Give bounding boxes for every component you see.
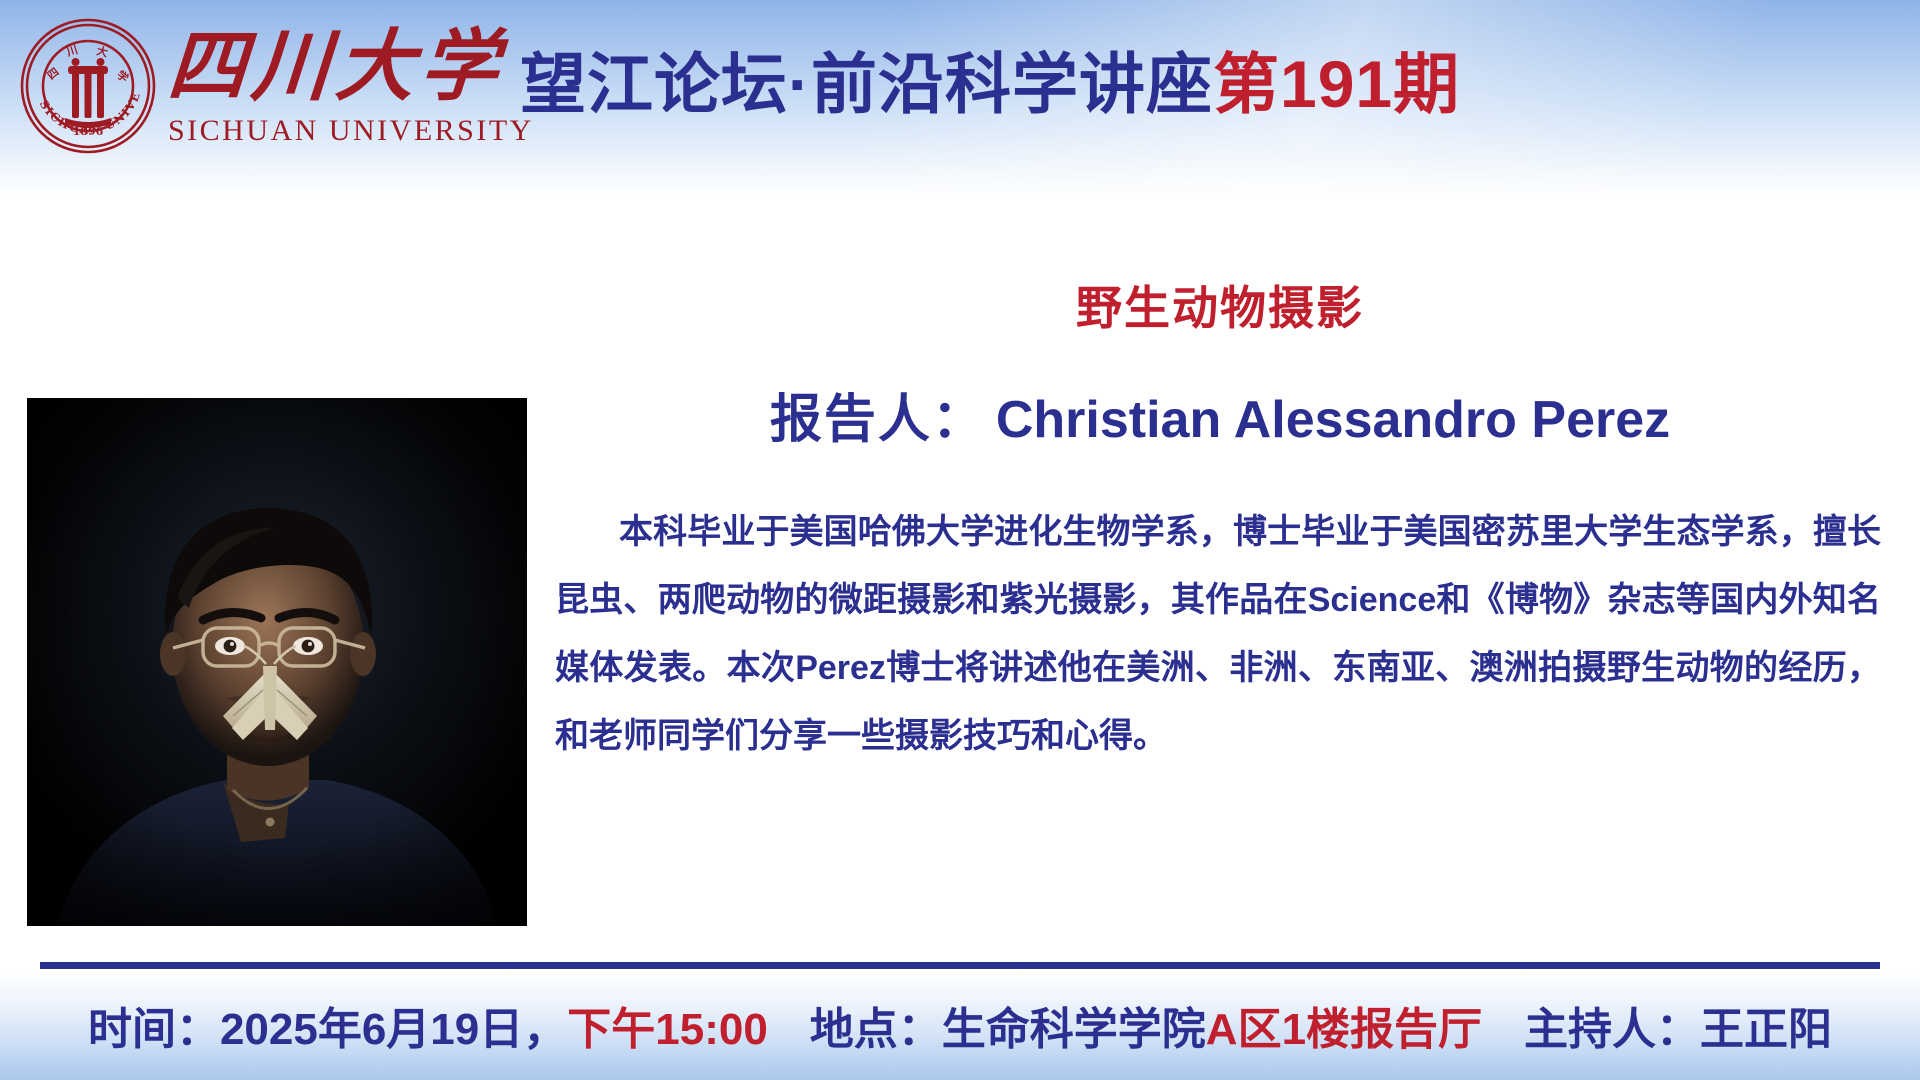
svg-text:大: 大 [95,43,109,59]
svg-text:川: 川 [64,43,79,59]
sichuan-university-seal-icon: 四 川 大 学 1896 SICHUAN UNIVERSITY [18,16,158,156]
place-name: 生命科学学院 [942,993,1206,1057]
speaker-label: 报告人： [770,391,986,449]
banner-title-main: 望江论坛·前沿科学讲座 [520,31,1213,127]
footer-info: 时间：2025年6月19日，下午15:00 地点：生命科学学院A区1楼报告厅 主… [0,986,1920,1064]
speaker-portrait [27,398,527,926]
banner-title: 望江论坛·前沿科学讲座第191期 [520,26,1900,132]
speaker-bio: 本科毕业于美国哈佛大学进化生物学系，博士毕业于美国密苏里大学生态学系，擅长昆虫、… [555,498,1885,770]
time-date: 2025年6月19日， [220,993,567,1057]
time-label: 时间： [88,993,220,1057]
wordmark-chinese: 四川大学 [165,24,501,110]
university-wordmark: 四川大学 SICHUAN UNIVERSITY [168,24,498,164]
place-room: A区1楼报告厅 [1206,993,1482,1057]
wordmark-english: SICHUAN UNIVERSITY [168,114,498,148]
footer-divider [40,962,1880,969]
banner-title-issue: 第191期 [1213,31,1460,127]
host-name: 王正阳 [1700,993,1832,1057]
university-logo: 四 川 大 学 1896 SICHUAN UNIVERSITY 四川大学 SIC… [18,14,498,166]
speaker-line: 报告人：Christian Alessandro Perez [555,388,1885,452]
poster-root: 四 川 大 学 1896 SICHUAN UNIVERSITY 四川大学 SIC… [0,0,1920,1080]
main-content: 野生动物摄影 报告人：Christian Alessandro Perez 本科… [555,280,1885,770]
host-label: 主持人： [1524,993,1700,1057]
speaker-name: Christian Alessandro Perez [996,391,1670,449]
talk-title: 野生动物摄影 [555,280,1885,336]
place-label: 地点： [810,993,942,1057]
time-clock: 下午15:00 [567,993,768,1057]
